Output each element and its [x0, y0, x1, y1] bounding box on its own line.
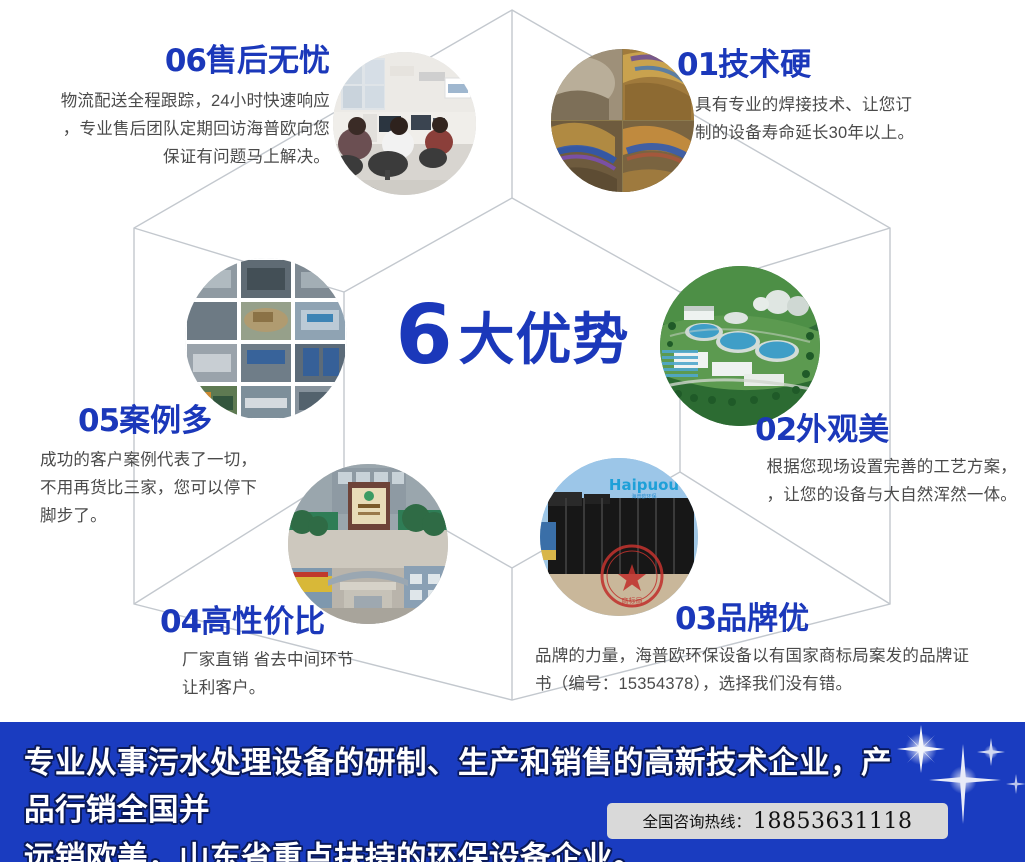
advantage-heading-03: 03品牌优 [535, 603, 1025, 636]
advantage-block-03: 03品牌优 品牌的力量，海普欧环保设备以有国家商标局案发的品牌证 书（编号：15… [535, 603, 1025, 698]
photo-logo-text: Haipuou [609, 476, 679, 494]
photo-circle-06 [333, 52, 476, 195]
advantage-line: 保证有问题马上解决。 [10, 143, 330, 171]
bottom-banner: 专业从事污水处理设备的研制、生产和销售的高新技术企业，产品行销全国并 远销欧美，… [0, 722, 1025, 862]
hotline-number: 18853631118 [753, 809, 912, 834]
project-cases-collage-photo [185, 258, 347, 420]
advantage-line: 品牌的力量，海普欧环保设备以有国家商标局案发的品牌证 [535, 642, 1025, 670]
advantage-line: ，专业售后团队定期回访海普欧向您 [10, 115, 330, 143]
photo-circle-01 [551, 49, 694, 192]
hotline-label: 全国咨询热线： [643, 810, 752, 832]
advantage-number-03: 03 [675, 601, 716, 637]
haipuou-equipment-with-seal-photo: Haipuou 海普欧环保 商标局 [540, 458, 698, 616]
advantage-line: 制的设备寿命延长30年以上。 [695, 119, 1017, 147]
advantage-number-02: 02 [755, 412, 796, 448]
photo-circle-03: Haipuou 海普欧环保 商标局 [540, 458, 698, 616]
advantage-heading-02: 02外观美 [677, 414, 1017, 447]
svg-text:海普欧环保: 海普欧环保 [631, 493, 656, 500]
advantage-body-04: 厂家直销 省去中间环节 让利客户。 [160, 646, 500, 703]
advantage-title-05: 案例多 [119, 403, 212, 438]
advantage-title-01: 技术硬 [718, 47, 811, 82]
advantage-body-06: 物流配送全程跟踪，24小时快速响应 ，专业售后团队定期回访海普欧向您 保证有问题… [10, 87, 330, 172]
advantage-line: 脚步了。 [40, 502, 380, 530]
banner-text: 专业从事污水处理设备的研制、生产和销售的高新技术企业，产品行销全国并 远销欧美，… [24, 740, 904, 862]
advantage-block-05: 05案例多 成功的客户案例代表了一切， 不用再货比三家，您可以停下 脚步了。 [40, 405, 380, 531]
advantage-number-05: 05 [78, 403, 119, 439]
advantage-title-03: 品牌优 [716, 601, 809, 636]
advantage-heading-06: 06售后无忧 [10, 45, 330, 78]
center-number: 6 [395, 288, 450, 383]
advantage-block-04: 04高性价比 厂家直销 省去中间环节 让利客户。 [160, 606, 500, 702]
advantage-line: 书（编号：15354378），选择我们没有错。 [535, 670, 1025, 698]
advantage-line: 根据您现场设置完善的工艺方案， [677, 453, 1017, 481]
photo-circle-05 [185, 258, 347, 420]
infographic-stage: 6大优势 [0, 0, 1025, 862]
advantage-body-03: 品牌的力量，海普欧环保设备以有国家商标局案发的品牌证 书（编号：15354378… [535, 642, 1025, 699]
advantage-body-02: 根据您现场设置完善的工艺方案， ，让您的设备与大自然浑然一体。 [677, 453, 1017, 510]
welding-closeups-photo [551, 49, 694, 192]
advantage-block-01: 01技术硬 具有专业的焊接技术、让您订 制的设备寿命延长30年以上。 [677, 49, 1017, 147]
advantage-line: 厂家直销 省去中间环节 [182, 646, 500, 674]
advantage-title-04: 高性价比 [201, 604, 325, 639]
office-staff-photo [333, 52, 476, 195]
advantage-heading-05: 05案例多 [40, 405, 380, 438]
advantage-block-06: 06售后无忧 物流配送全程跟踪，24小时快速响应 ，专业售后团队定期回访海普欧向… [10, 45, 330, 172]
advantage-heading-04: 04高性价比 [160, 606, 500, 639]
advantage-line: 不用再货比三家，您可以停下 [40, 474, 380, 502]
advantage-line: 让利客户。 [182, 674, 500, 702]
advantage-heading-01: 01技术硬 [677, 49, 1017, 82]
advantage-body-01: 具有专业的焊接技术、让您订 制的设备寿命延长30年以上。 [677, 91, 1017, 148]
center-title: 6大优势 [0, 295, 1025, 377]
advantage-line: 物流配送全程跟踪，24小时快速响应 [10, 87, 330, 115]
advantage-body-05: 成功的客户案例代表了一切， 不用再货比三家，您可以停下 脚步了。 [40, 446, 380, 531]
advantage-number-01: 01 [677, 47, 718, 83]
aerial-wastewater-plant-photo [660, 266, 820, 426]
center-text: 大优势 [459, 308, 630, 371]
advantage-line: 具有专业的焊接技术、让您订 [695, 91, 1017, 119]
advantage-title-06: 售后无忧 [206, 43, 330, 78]
advantage-line: 成功的客户案例代表了一切， [40, 446, 380, 474]
photo-circle-02 [660, 266, 820, 426]
advantage-line: ，让您的设备与大自然浑然一体。 [677, 481, 1017, 509]
advantage-number-06: 06 [165, 43, 206, 79]
hotline-box[interactable]: 全国咨询热线： 18853631118 [607, 803, 948, 839]
advantage-title-02: 外观美 [796, 412, 889, 447]
advantage-block-02: 02外观美 根据您现场设置完善的工艺方案， ，让您的设备与大自然浑然一体。 [677, 414, 1017, 509]
advantage-number-04: 04 [160, 604, 201, 640]
